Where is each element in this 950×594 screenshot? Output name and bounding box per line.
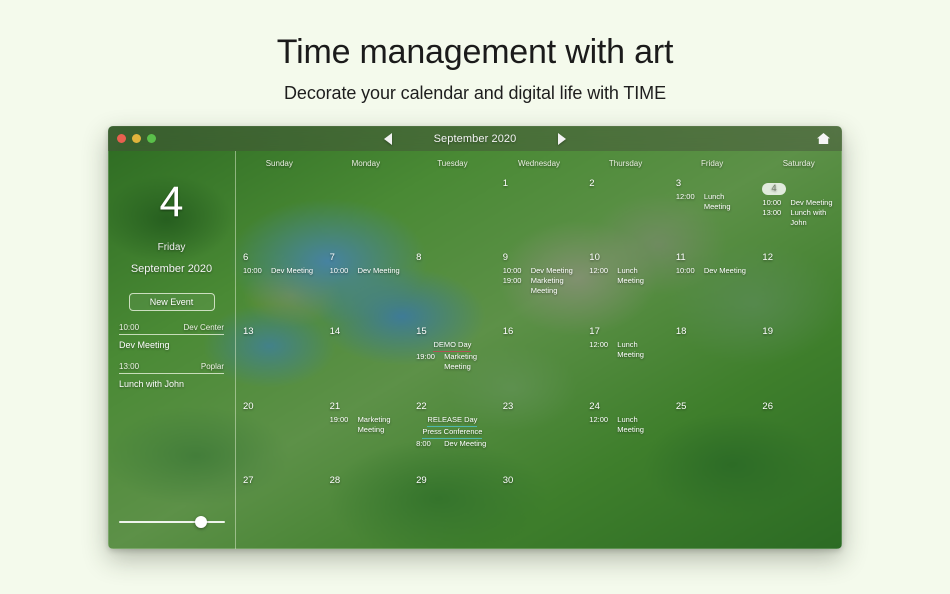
calendar-event[interactable]: 10:00Dev Meeting	[676, 266, 749, 276]
event-time: 19:00	[503, 276, 525, 296]
event-name: Marketing Meeting	[444, 352, 489, 372]
sidebar-month-year: September 2020	[119, 263, 224, 275]
calendar-week-row: 12312:00Lunch Meeting410:00Dev Meeting13…	[236, 178, 842, 252]
chevron-right-icon[interactable]	[558, 133, 566, 145]
all-day-event[interactable]: RELEASE Day	[416, 415, 489, 427]
calendar-event[interactable]: 10:00Dev Meeting	[330, 266, 403, 276]
calendar-day-cell-empty	[409, 178, 496, 252]
promo-title: Time management with art	[0, 34, 950, 71]
event-name: Lunch Meeting	[617, 266, 662, 286]
day-number: 13	[243, 326, 316, 338]
calendar-day-cell-22[interactable]: 22RELEASE DayPress Conference8:00Dev Mee…	[409, 401, 496, 475]
calendar-event[interactable]: 19:00Marketing Meeting	[330, 415, 403, 435]
event-name: Lunch Meeting	[617, 415, 662, 435]
event-time: 10:00	[503, 266, 525, 276]
opacity-slider[interactable]	[119, 515, 225, 529]
event-name: Dev Meeting	[790, 198, 832, 208]
day-number: 17	[589, 326, 662, 338]
day-events: 12:00Lunch Meeting	[676, 192, 749, 212]
calendar-day-cell-16[interactable]: 16	[496, 326, 583, 400]
calendar-day-cell-10[interactable]: 1012:00Lunch Meeting	[582, 252, 669, 326]
calendar-day-cell-23[interactable]: 23	[496, 401, 583, 475]
sidebar-event-1-title: Dev Meeting	[119, 340, 224, 350]
calendar-day-cell-17[interactable]: 1712:00Lunch Meeting	[582, 326, 669, 400]
day-number: 23	[503, 401, 576, 413]
sidebar-event-2-title: Lunch with John	[119, 379, 224, 389]
new-event-button[interactable]: New Event	[129, 293, 215, 311]
event-time: 10:00	[762, 198, 784, 208]
calendar-week-row: 610:00Dev Meeting710:00Dev Meeting8910:0…	[236, 252, 842, 326]
day-events: 12:00Lunch Meeting	[589, 266, 662, 286]
calendar-day-cell-3[interactable]: 312:00Lunch Meeting	[669, 178, 756, 252]
day-number: 1	[503, 178, 576, 190]
sidebar-event-2-meta: 13:00 Poplar	[119, 362, 224, 374]
calendar-event[interactable]: 12:00Lunch Meeting	[589, 266, 662, 286]
calendar-event[interactable]: 10:00Dev Meeting	[762, 198, 835, 208]
weekday-header-monday: Monday	[323, 159, 410, 168]
calendar-day-cell-9[interactable]: 910:00Dev Meeting19:00Marketing Meeting	[496, 252, 583, 326]
day-number: 27	[243, 475, 316, 487]
day-number: 18	[676, 326, 749, 338]
day-number: 30	[503, 475, 576, 487]
slider-knob[interactable]	[195, 516, 207, 528]
day-number: 28	[330, 475, 403, 487]
event-name: Lunch Meeting	[704, 192, 749, 212]
sidebar-event-1-time: 10:00	[119, 323, 139, 332]
sidebar-event-2-location: Poplar	[201, 362, 224, 371]
slider-track	[119, 521, 225, 523]
event-name: Lunch with John	[790, 208, 835, 228]
calendar-day-cell-empty	[236, 178, 323, 252]
day-events: 10:00Dev Meeting19:00Marketing Meeting	[503, 266, 576, 296]
calendar-weeks: 12312:00Lunch Meeting410:00Dev Meeting13…	[236, 168, 842, 549]
event-time: 12:00	[589, 340, 611, 360]
sidebar-event-2[interactable]: 13:00 Poplar Lunch with John	[119, 362, 224, 389]
day-number: 3	[676, 178, 749, 190]
day-events: 10:00Dev Meeting13:00Lunch with John	[762, 198, 835, 228]
calendar-day-cell-2[interactable]: 2	[582, 178, 669, 252]
day-number: 9	[503, 252, 576, 264]
event-time: 10:00	[676, 266, 698, 276]
calendar-day-cell-24[interactable]: 2412:00Lunch Meeting	[582, 401, 669, 475]
app-window: September 2020 4 Friday September 2020 N…	[108, 126, 842, 549]
window-content: 4 Friday September 2020 New Event 10:00 …	[108, 151, 842, 549]
calendar-week-row: 202119:00Marketing Meeting22RELEASE DayP…	[236, 401, 842, 475]
sidebar-weekday: Friday	[119, 242, 224, 253]
sidebar-event-2-time: 13:00	[119, 362, 139, 371]
event-time: 12:00	[589, 415, 611, 435]
calendar-event[interactable]: 12:00Lunch Meeting	[676, 192, 749, 212]
sidebar-event-1-meta: 10:00 Dev Center	[119, 323, 224, 335]
sidebar: 4 Friday September 2020 New Event 10:00 …	[108, 151, 236, 549]
event-name: Dev Meeting	[271, 266, 313, 276]
event-time: 8:00	[416, 439, 438, 449]
calendar-day-cell-empty	[669, 475, 756, 549]
calendar-day-cell-11[interactable]: 1110:00Dev Meeting	[669, 252, 756, 326]
calendar-day-cell-30[interactable]: 30	[496, 475, 583, 549]
home-icon[interactable]	[815, 130, 832, 147]
day-number: 21	[330, 401, 403, 413]
calendar-day-cell-29[interactable]: 29	[409, 475, 496, 549]
sidebar-day-number: 4	[119, 181, 224, 224]
today-day-number: 4	[762, 183, 785, 195]
day-number: 2	[589, 178, 662, 190]
calendar-event[interactable]: 8:00Dev Meeting	[416, 439, 489, 449]
calendar-event[interactable]: 19:00Marketing Meeting	[503, 276, 576, 296]
calendar-week-row: 131415DEMO Day19:00Marketing Meeting1617…	[236, 326, 842, 400]
weekday-header-friday: Friday	[669, 159, 756, 168]
event-name: DEMO Day	[433, 340, 471, 352]
event-name: Dev Meeting	[358, 266, 400, 276]
event-name: Marketing Meeting	[358, 415, 403, 435]
calendar-event[interactable]: 13:00Lunch with John	[762, 208, 835, 228]
promo-subtitle: Decorate your calendar and digital life …	[0, 83, 950, 104]
event-time: 12:00	[676, 192, 698, 212]
calendar-day-cell-21[interactable]: 2119:00Marketing Meeting	[323, 401, 410, 475]
event-name: Press Conference	[422, 427, 482, 439]
calendar-day-cell-13[interactable]: 13	[236, 326, 323, 400]
calendar-event[interactable]: 19:00Marketing Meeting	[416, 352, 489, 372]
day-number: 15	[416, 326, 489, 338]
day-events: 10:00Dev Meeting	[676, 266, 749, 276]
day-number: 22	[416, 401, 489, 413]
sidebar-event-1-location: Dev Center	[184, 323, 224, 332]
day-events: 19:00Marketing Meeting	[330, 415, 403, 435]
day-events: 12:00Lunch Meeting	[589, 415, 662, 435]
weekday-header-saturday: Saturday	[755, 159, 842, 168]
event-time: 13:00	[762, 208, 784, 228]
day-number: 11	[676, 252, 749, 264]
calendar-day-cell-19[interactable]: 19	[755, 326, 842, 400]
calendar-day-cell-empty	[755, 475, 842, 549]
calendar-day-cell-empty	[582, 475, 669, 549]
day-events: DEMO Day19:00Marketing Meeting	[416, 340, 489, 372]
day-number: 16	[503, 326, 576, 338]
day-number: 14	[330, 326, 403, 338]
day-number: 10	[589, 252, 662, 264]
day-number: 24	[589, 401, 662, 413]
day-events: RELEASE DayPress Conference8:00Dev Meeti…	[416, 415, 489, 449]
event-name: RELEASE Day	[427, 415, 477, 427]
event-name: Dev Meeting	[531, 266, 573, 276]
day-events: 12:00Lunch Meeting	[589, 340, 662, 360]
day-events: 10:00Dev Meeting	[243, 266, 316, 276]
all-day-event[interactable]: Press Conference	[416, 427, 489, 439]
window-titlebar: September 2020	[108, 126, 842, 151]
calendar-day-cell-20[interactable]: 20	[236, 401, 323, 475]
calendar-day-cell-12[interactable]: 12	[755, 252, 842, 326]
day-number: 25	[676, 401, 749, 413]
weekday-header-sunday: Sunday	[236, 159, 323, 168]
chevron-left-icon[interactable]	[384, 133, 392, 145]
calendar-day-cell-empty	[323, 178, 410, 252]
month-navigation: September 2020	[108, 133, 842, 145]
calendar-event[interactable]: 10:00Dev Meeting	[503, 266, 576, 276]
event-time: 12:00	[589, 266, 611, 286]
calendar-day-cell-25[interactable]: 25	[669, 401, 756, 475]
all-day-event[interactable]: DEMO Day	[416, 340, 489, 352]
event-time: 10:00	[330, 266, 352, 276]
event-time: 19:00	[416, 352, 438, 372]
event-time: 19:00	[330, 415, 352, 435]
promo-header: Time management with art Decorate your c…	[0, 0, 950, 104]
current-month-label: September 2020	[434, 133, 517, 145]
calendar-day-cell-15[interactable]: 15DEMO Day19:00Marketing Meeting	[409, 326, 496, 400]
calendar-week-row: 27282930	[236, 475, 842, 549]
calendar-day-cell-7[interactable]: 710:00Dev Meeting	[323, 252, 410, 326]
calendar-day-cell-8[interactable]: 8	[409, 252, 496, 326]
calendar-day-cell-6[interactable]: 610:00Dev Meeting	[236, 252, 323, 326]
weekday-header-wednesday: Wednesday	[496, 159, 583, 168]
event-time: 10:00	[243, 266, 265, 276]
day-number: 26	[762, 401, 835, 413]
event-name: Marketing Meeting	[531, 276, 576, 296]
calendar-day-cell-1[interactable]: 1	[496, 178, 583, 252]
weekday-header-tuesday: Tuesday	[409, 159, 496, 168]
calendar-event[interactable]: 12:00Lunch Meeting	[589, 340, 662, 360]
calendar-day-cell-26[interactable]: 26	[755, 401, 842, 475]
calendar-event[interactable]: 12:00Lunch Meeting	[589, 415, 662, 435]
day-number: 12	[762, 252, 835, 264]
day-number: 29	[416, 475, 489, 487]
event-name: Lunch Meeting	[617, 340, 662, 360]
weekday-header-thursday: Thursday	[582, 159, 669, 168]
event-name: Dev Meeting	[444, 439, 486, 449]
calendar-day-cell-28[interactable]: 28	[323, 475, 410, 549]
calendar-day-cell-27[interactable]: 27	[236, 475, 323, 549]
day-number: 19	[762, 326, 835, 338]
calendar-day-cell-18[interactable]: 18	[669, 326, 756, 400]
calendar-day-cell-4[interactable]: 410:00Dev Meeting13:00Lunch with John	[755, 178, 842, 252]
day-number: 20	[243, 401, 316, 413]
day-number: 7	[330, 252, 403, 264]
day-events: 10:00Dev Meeting	[330, 266, 403, 276]
calendar-day-cell-14[interactable]: 14	[323, 326, 410, 400]
day-number: 8	[416, 252, 489, 264]
calendar-grid: SundayMondayTuesdayWednesdayThursdayFrid…	[236, 151, 842, 549]
calendar-event[interactable]: 10:00Dev Meeting	[243, 266, 316, 276]
day-number: 6	[243, 252, 316, 264]
weekday-header-row: SundayMondayTuesdayWednesdayThursdayFrid…	[236, 159, 842, 168]
event-name: Dev Meeting	[704, 266, 746, 276]
sidebar-event-1[interactable]: 10:00 Dev Center Dev Meeting	[119, 323, 224, 350]
